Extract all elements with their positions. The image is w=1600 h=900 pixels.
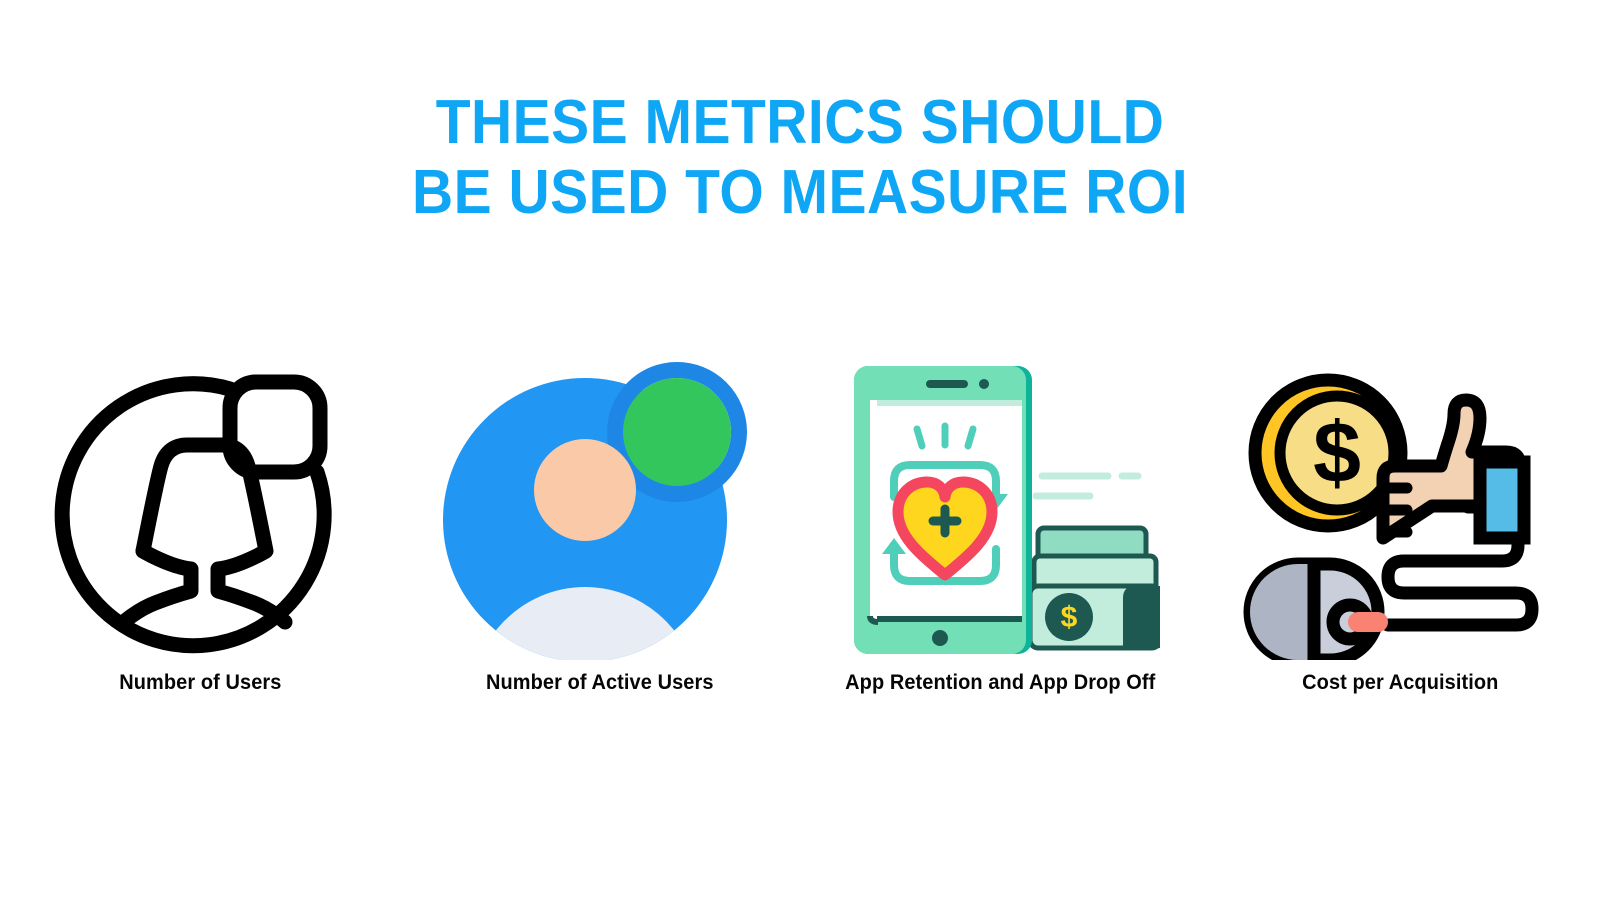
metric-card-cost-per-acquisition: $ xyxy=(1200,360,1600,696)
page-title: THESE METRICS SHOULD BE USED TO MEASURE … xyxy=(0,92,1600,224)
title-line-2: BE USED TO MEASURE ROI xyxy=(64,162,1536,224)
status-dot xyxy=(623,378,731,486)
metric-label-cost-per-acquisition: Cost per Acquisition xyxy=(1302,670,1498,696)
computer-mouse-icon xyxy=(1250,564,1388,660)
infographic-slide: THESE METRICS SHOULD BE USED TO MEASURE … xyxy=(0,0,1600,900)
metric-label-app-retention: App Retention and App Drop Off xyxy=(845,670,1155,696)
money-speed-lines xyxy=(1036,476,1138,496)
money-stack: $ xyxy=(1030,528,1160,648)
metric-label-number-of-users: Number of Users xyxy=(119,670,281,696)
metric-card-number-of-users: Number of Users xyxy=(0,360,400,696)
phone-with-heart-refresh-and-money-icon: $ xyxy=(840,360,1160,660)
metrics-row: Number of Users xyxy=(0,360,1600,696)
coin-thumbs-up-and-mouse-icon: $ xyxy=(1240,360,1560,660)
avatar-face xyxy=(534,439,636,541)
title-line-1: THESE METRICS SHOULD xyxy=(64,92,1536,154)
phone-speaker xyxy=(926,380,968,388)
metric-card-number-of-active-users: Number of Active Users xyxy=(400,360,800,696)
metric-card-app-retention: $ xyxy=(800,360,1200,696)
metric-label-number-of-active-users: Number of Active Users xyxy=(486,670,714,696)
avatar-with-online-status-icon xyxy=(440,360,760,660)
svg-text:$: $ xyxy=(1061,601,1078,634)
user-in-circle-with-badge-icon xyxy=(40,360,360,660)
phone-camera xyxy=(979,379,989,389)
phone-home-button xyxy=(932,630,948,646)
svg-text:$: $ xyxy=(1313,405,1361,501)
sleeve-cuff xyxy=(1480,462,1524,538)
thumbs-up-hand-icon xyxy=(1383,400,1524,538)
mouse-scroll xyxy=(1348,612,1388,632)
